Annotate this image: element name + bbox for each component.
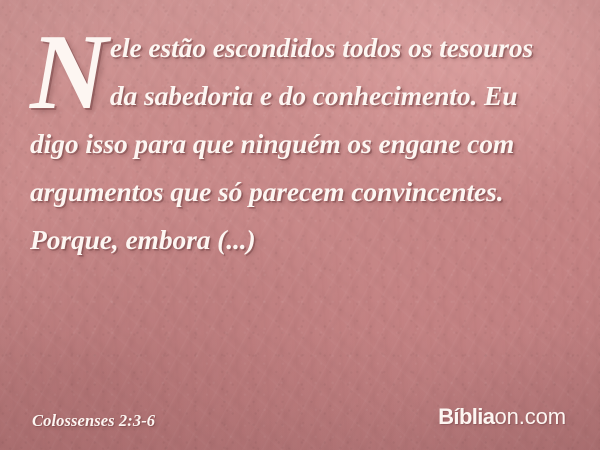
verse-reference: Colossenses 2:3-6	[32, 411, 155, 431]
site-logo-domain: on.com	[494, 404, 566, 430]
site-logo-brand: Bíblia	[438, 404, 494, 430]
site-logo[interactable]: Bíbliaon.com	[438, 404, 566, 430]
verse-text-block: Nele estão escondidos todos os tesouros …	[30, 24, 558, 264]
verse-dropcap: N	[30, 30, 108, 116]
verse-card: Nele estão escondidos todos os tesouros …	[0, 0, 600, 450]
